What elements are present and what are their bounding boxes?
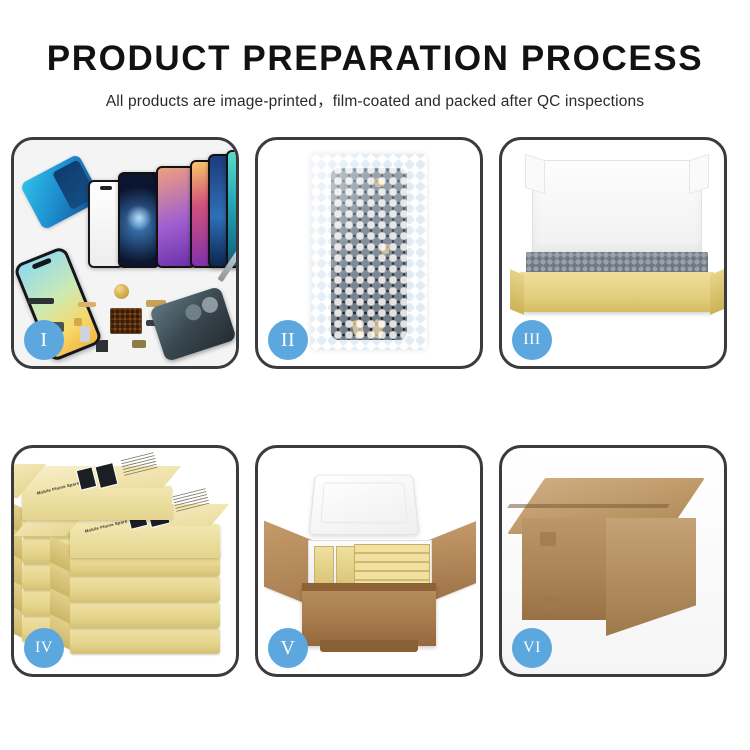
phone-screen-fan	[88, 148, 236, 268]
stacked-box	[70, 628, 220, 654]
step-panel-6: VI	[499, 445, 727, 677]
small-part-gold-strip	[78, 302, 96, 307]
bubble-wrap-bag	[311, 154, 427, 350]
packed-inner-box-row	[354, 544, 430, 588]
step-badge-5: V	[268, 628, 308, 668]
carton-tape-patch	[542, 596, 558, 612]
step-badge-1: I	[24, 320, 64, 360]
carton-top-seam	[507, 504, 670, 508]
small-part-connector	[132, 340, 146, 348]
phone-screen-teal	[226, 150, 236, 268]
step-panel-5: V	[255, 445, 483, 677]
carton-body	[302, 584, 436, 646]
step-badge-3: III	[512, 320, 552, 360]
yellow-inner-box-tray	[520, 272, 714, 312]
phone-screen-blue	[118, 172, 160, 268]
packed-inner-box	[314, 546, 334, 586]
step-panel-1: I	[11, 137, 239, 369]
page-title: PRODUCT PREPARATION PROCESS	[0, 0, 750, 76]
phone-chassis	[149, 286, 236, 362]
small-part-speaker	[96, 340, 108, 352]
step-badge-2: II	[268, 320, 308, 360]
packed-inner-box	[336, 546, 356, 586]
process-steps-grid: I II	[11, 137, 739, 677]
carton-tape-patch	[540, 532, 556, 546]
inner-box-lid	[532, 160, 702, 256]
carton-bottom	[320, 640, 418, 652]
stacked-box	[70, 576, 220, 602]
small-part-contact	[74, 318, 82, 326]
carton-side-face	[606, 518, 696, 636]
small-part-coin	[114, 284, 129, 299]
stacked-box	[70, 602, 220, 628]
small-part-bar	[28, 298, 54, 304]
step-badge-4: IV	[24, 628, 64, 668]
plastic-sheen	[311, 154, 427, 350]
product-preparation-infographic: PRODUCT PREPARATION PROCESS All products…	[0, 0, 750, 750]
small-part-sim-tray	[80, 326, 90, 342]
page-subtitle: All products are image-printed，film-coat…	[0, 76, 750, 111]
step-panel-3: III	[499, 137, 727, 369]
header: PRODUCT PREPARATION PROCESS All products…	[0, 0, 750, 111]
step-panel-4: Mobile Phone Spare Parts Mobile Phone Sp…	[11, 445, 239, 677]
small-part-grid-array	[110, 308, 142, 334]
carton-front-face	[522, 518, 608, 620]
step-panel-2: II	[255, 137, 483, 369]
step-badge-6: VI	[512, 628, 552, 668]
styrofoam-lid	[309, 475, 420, 535]
